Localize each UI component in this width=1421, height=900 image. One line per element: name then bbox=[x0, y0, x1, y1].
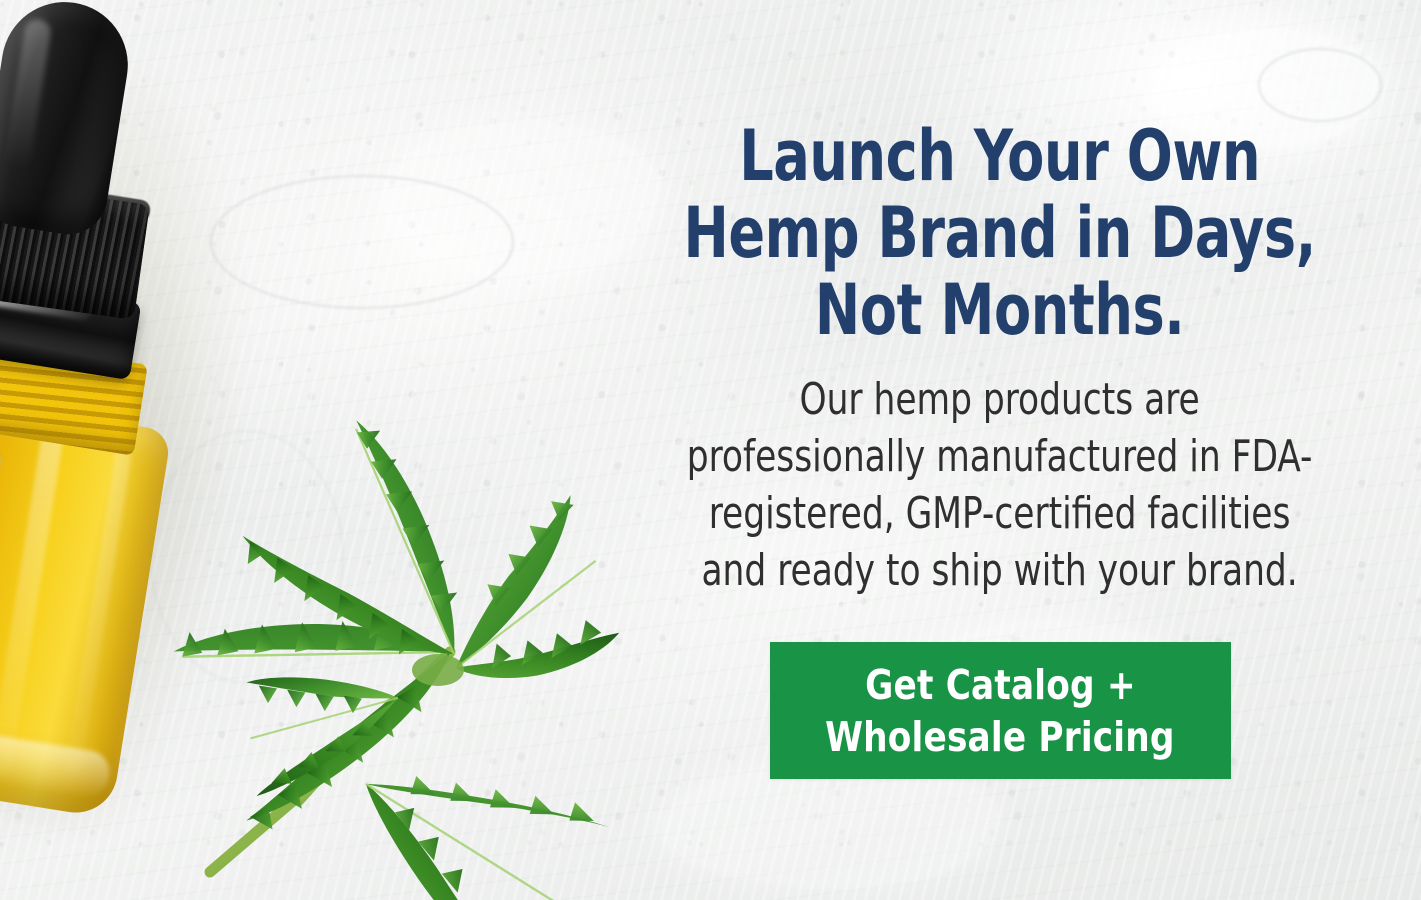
headline-line-1: Launch Your Own bbox=[684, 118, 1316, 195]
page-title: Launch Your Own Hemp Brand in Days, Not … bbox=[684, 118, 1316, 349]
cta-label-line-2: Wholesale Pricing bbox=[825, 711, 1174, 763]
copy-block: Launch Your Own Hemp Brand in Days, Not … bbox=[600, 0, 1400, 900]
subheadline-text: Our hemp products are professionally man… bbox=[687, 371, 1313, 599]
get-catalog-button[interactable]: Get Catalog + Wholesale Pricing bbox=[770, 642, 1231, 779]
subcopy-line-4: and ready to ship with your brand. bbox=[687, 542, 1313, 599]
cta-label-line-1: Get Catalog + bbox=[865, 659, 1136, 711]
subcopy-line-1: Our hemp products are bbox=[687, 371, 1313, 428]
hero-banner: Launch Your Own Hemp Brand in Days, Not … bbox=[0, 0, 1421, 900]
subcopy-line-2: professionally manufactured in FDA- bbox=[687, 428, 1313, 485]
subcopy-line-3: registered, GMP-certified facilities bbox=[687, 485, 1313, 542]
leaf-node bbox=[412, 654, 464, 686]
headline-line-3: Not Months. bbox=[684, 272, 1316, 349]
leaflet bbox=[439, 492, 623, 685]
headline-line-2: Hemp Brand in Days, bbox=[684, 195, 1316, 272]
